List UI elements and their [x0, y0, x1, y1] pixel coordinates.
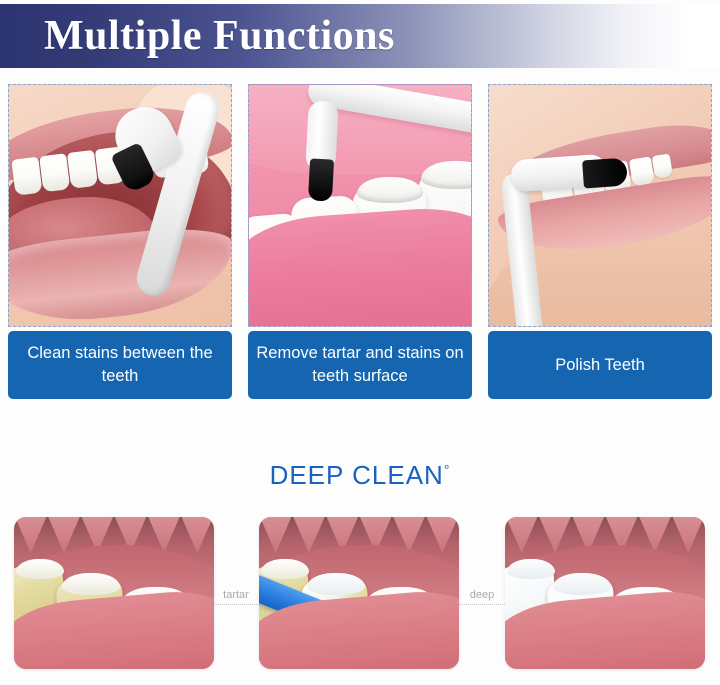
molar-crown-shape [357, 177, 423, 203]
tooth-crown-shape [307, 573, 365, 595]
panel-caption-polish-teeth: Polish Teeth [488, 331, 712, 399]
deep-clean-title-text: DEEP CLEAN [270, 460, 444, 490]
photo-smile-close-up-with-dental-tool [488, 84, 712, 327]
panel-clean-stains: Clean stains between the teeth [0, 84, 240, 424]
panel-caption-remove-tartar: Remove tartar and stains on teeth surfac… [248, 331, 472, 399]
tooth-crown-shape [62, 573, 120, 595]
panel-remove-tartar: Remove tartar and stains on teeth surfac… [240, 84, 480, 424]
photo-open-mouth-with-dental-tool [8, 84, 232, 327]
degree-symbol: ° [444, 461, 451, 477]
tooth-crown-shape [553, 573, 611, 595]
connector-line-tartar [214, 604, 259, 605]
step-image-before [14, 517, 214, 669]
tool-black-tip-shape [308, 158, 334, 201]
tooth-crown-shape [16, 559, 64, 579]
mouth-scene [505, 517, 705, 669]
product-infographic: Multiple Functions Clean stai [0, 0, 720, 685]
mouth-scene [14, 517, 214, 669]
panel-polish-teeth: Polish Teeth [480, 84, 720, 424]
tartar-label: tartar [206, 589, 266, 601]
connector-line-deep [459, 604, 505, 605]
step-image-after [505, 517, 705, 669]
lower-gum-shape [248, 204, 472, 327]
deep-clean-sequence: tartar deep [0, 517, 720, 675]
panel-caption-clean-stains: Clean stains between the teeth [8, 331, 232, 399]
mouth-scene [259, 517, 459, 669]
step-image-during [259, 517, 459, 669]
header-banner: Multiple Functions [0, 4, 720, 68]
deep-label: deep [452, 589, 512, 601]
tooth-crown-shape [507, 559, 555, 579]
page-title: Multiple Functions [44, 15, 395, 57]
function-panels: Clean stains between the teeth Remove ta… [0, 84, 720, 424]
tooth-crown-shape [261, 559, 309, 579]
deep-clean-title: DEEP CLEAN° [0, 460, 720, 491]
photo-molar-illustration-with-dental-tool [248, 84, 472, 327]
tool-black-tip-shape [582, 157, 628, 188]
